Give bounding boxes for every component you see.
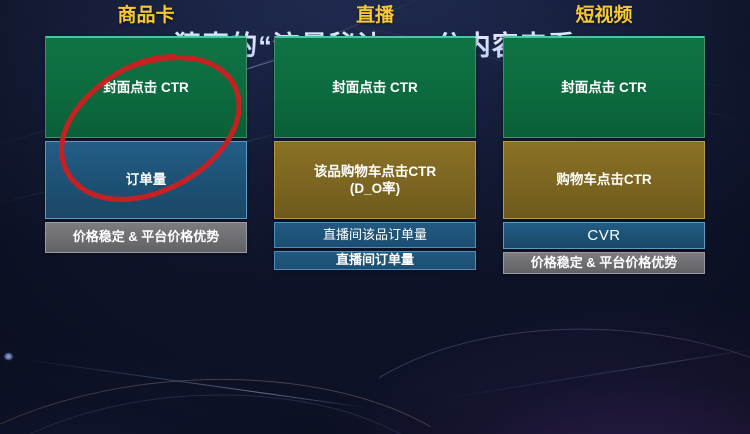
metric-box-cover-ctr[interactable]: 封面点击 CTR	[45, 36, 247, 138]
column-header-livestream: 直播	[274, 0, 476, 27]
metric-box-cover-ctr[interactable]: 封面点击 CTR	[274, 36, 476, 138]
metric-box-price-advantage[interactable]: 价格稳定 & 平台价格优势	[45, 222, 247, 253]
metric-box-order-volume[interactable]: 订单量	[45, 141, 247, 219]
metric-box-room-total-orders[interactable]: 直播间订单量	[274, 251, 476, 270]
metric-box-room-product-orders[interactable]: 直播间该品订单量	[274, 222, 476, 248]
decorative-arc	[0, 359, 512, 434]
column-header-product-card: 商品卡	[45, 0, 247, 27]
column-livestream: 直播 封面点击 CTR 该品购物车点击CTR (D_O率) 直播间该品订单量 直…	[274, 0, 476, 273]
metric-box-cart-click-ctr-do[interactable]: 该品购物车点击CTR (D_O率)	[274, 141, 476, 219]
metric-label-line-2: (D_O率)	[314, 180, 436, 197]
metric-box-cover-ctr[interactable]: 封面点击 CTR	[503, 36, 705, 138]
presentation-slide: 猜喜的“流量秘诀”： 分内容来看 商品卡 封面点击 CTR 订单量 价格稳定 &…	[0, 0, 750, 434]
metric-label: 价格稳定 & 平台价格优势	[531, 255, 678, 272]
metric-box-cart-click-ctr[interactable]: 购物车点击CTR	[503, 141, 705, 219]
metric-label-line-1: 该品购物车点击CTR	[314, 163, 436, 180]
column-header-short-video: 短视频	[503, 0, 705, 27]
metric-label: CVR	[587, 226, 620, 245]
metric-label: 封面点击 CTR	[103, 79, 189, 96]
metric-label: 价格稳定 & 平台价格优势	[73, 229, 220, 246]
metric-label: 订单量	[126, 171, 167, 188]
light-streak-icon	[10, 357, 367, 408]
metric-label: 直播间订单量	[336, 252, 414, 269]
glow-dot-icon	[4, 353, 13, 360]
metric-box-price-advantage[interactable]: 价格稳定 & 平台价格优势	[503, 252, 705, 274]
metric-label: 购物车点击CTR	[556, 171, 651, 188]
light-streak-icon	[430, 348, 750, 401]
decorative-arc	[285, 304, 750, 434]
metric-label: 直播间该品订单量	[323, 227, 427, 244]
column-short-video: 短视频 封面点击 CTR 购物车点击CTR CVR 价格稳定 & 平台价格优势	[503, 0, 705, 277]
metric-box-cvr[interactable]: CVR	[503, 222, 705, 249]
metric-label: 封面点击 CTR	[332, 79, 418, 96]
column-product-card: 商品卡 封面点击 CTR 订单量 价格稳定 & 平台价格优势	[45, 0, 247, 256]
metric-label: 封面点击 CTR	[561, 79, 647, 96]
decorative-arc	[0, 382, 468, 434]
